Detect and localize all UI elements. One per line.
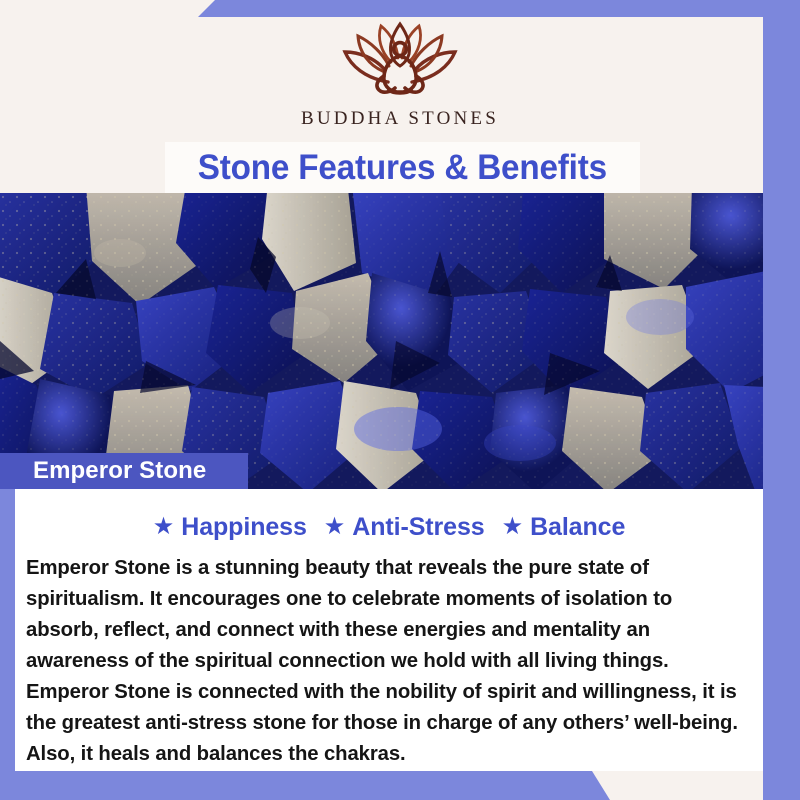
description-body: Emperor Stone is a stunning beauty that … (15, 542, 763, 769)
brand-logo: BUDDHA STONES (0, 18, 800, 130)
benefit-item-anti-stress: ★ Anti-Stress (324, 513, 485, 542)
star-icon: ★ (324, 515, 346, 539)
frame-border-right (763, 0, 800, 800)
benefits-list: ★ Happiness ★ Anti-Stress ★ Balance (15, 489, 763, 542)
stone-photo (0, 193, 800, 489)
benefit-item-balance: ★ Balance (502, 513, 626, 542)
lotus-meditation-icon (325, 18, 475, 104)
content-panel: ★ Happiness ★ Anti-Stress ★ Balance Empe… (15, 489, 763, 771)
benefit-label: Balance (530, 513, 625, 542)
description-paragraph-2: Emperor Stone is connected with the nobi… (26, 676, 744, 769)
benefit-label: Happiness (181, 513, 307, 542)
stone-name-label: Emperor Stone (33, 457, 206, 485)
benefit-item-happiness: ★ Happiness (153, 513, 307, 542)
star-icon: ★ (153, 515, 175, 539)
stone-name-banner: Emperor Stone (0, 453, 248, 489)
description-paragraph-1: Emperor Stone is a stunning beauty that … (26, 552, 744, 676)
title-band: Stone Features & Benefits (165, 142, 640, 193)
stone-photo-illustration (0, 193, 800, 489)
benefit-label: Anti-Stress (352, 513, 484, 542)
frame-border-left (0, 489, 15, 771)
star-icon: ★ (502, 515, 524, 539)
poster-root: BUDDHA STONES Stone Features & Benefits … (0, 0, 800, 800)
page-title: Stone Features & Benefits (198, 148, 607, 188)
frame-border-bottom (0, 771, 800, 800)
brand-name: BUDDHA STONES (301, 108, 499, 130)
